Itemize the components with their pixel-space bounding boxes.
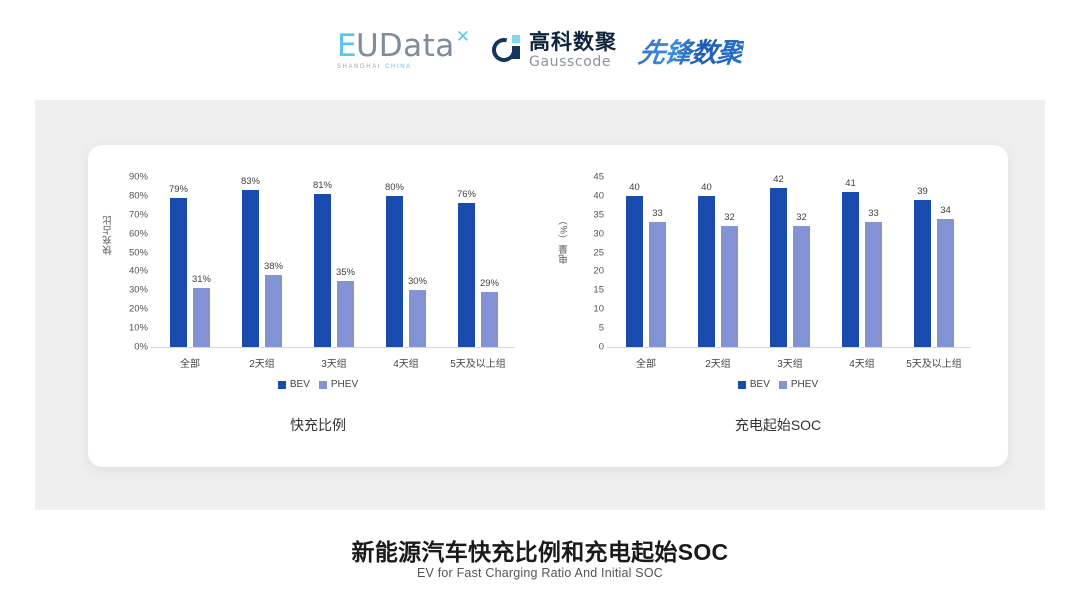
bar-groups: 79%31%83%38%81%35%80%30%76%29% <box>154 177 514 347</box>
bar-bev[interactable]: 79% <box>170 198 187 347</box>
bar-value-label: 30% <box>408 276 427 287</box>
bar-bev[interactable]: 83% <box>242 190 259 347</box>
y-axis-tick: 40% <box>114 266 148 277</box>
chart-legend: BEVPHEV <box>88 379 548 390</box>
bar-group: 81%35% <box>298 177 370 347</box>
bar-group: 4032 <box>682 177 754 347</box>
y-axis-tick: 10 <box>570 304 604 315</box>
bar-phev[interactable]: 33 <box>865 222 882 347</box>
y-axis-tick: 30 <box>570 228 604 239</box>
bar-group: 76%29% <box>442 177 514 347</box>
bar-phev[interactable]: 30% <box>409 290 426 347</box>
charts-card: 快充占比90%80%70%60%50%40%30%20%10%0%79%31%8… <box>88 145 1008 467</box>
bar-value-label: 32 <box>724 212 735 223</box>
bar-phev[interactable]: 33 <box>649 222 666 347</box>
y-axis-tick: 60% <box>114 228 148 239</box>
evdata-word-data: Data <box>379 31 455 62</box>
x-axis-tick: 全部 <box>154 355 226 370</box>
y-axis-tick: 10% <box>114 323 148 334</box>
x-axis-line <box>150 347 514 348</box>
bar-value-label: 42 <box>773 174 784 185</box>
gausscode-name-en: Gausscode <box>529 55 617 69</box>
bar-group: 80%30% <box>370 177 442 347</box>
bar-group: 4133 <box>826 177 898 347</box>
x-axis-tick: 5天及以上组 <box>898 355 970 370</box>
xianfeng-name-cn: 先锋数聚 <box>636 31 745 70</box>
x-axis-tick: 3天组 <box>298 355 370 370</box>
legend-swatch-phev <box>319 381 327 389</box>
bar-phev[interactable]: 38% <box>265 275 282 347</box>
bar-value-label: 41 <box>845 178 856 189</box>
y-axis-tick: 35 <box>570 209 604 220</box>
logo-strip: E U Data ✕ SHANGHAI CHINA 高科数聚 Gausscode… <box>0 22 1080 78</box>
y-axis-tick: 20 <box>570 266 604 277</box>
bar-value-label: 29% <box>480 278 499 289</box>
bar-group: 4033 <box>610 177 682 347</box>
bar-value-label: 79% <box>169 184 188 195</box>
bar-group: 4232 <box>754 177 826 347</box>
gausscode-logo: 高科数聚 Gausscode <box>492 32 617 69</box>
legend-item-bev[interactable]: BEV <box>738 379 770 390</box>
bar-phev[interactable]: 29% <box>481 292 498 347</box>
y-axis-tick: 70% <box>114 209 148 220</box>
legend-swatch-bev <box>278 381 286 389</box>
cross-icon: ✕ <box>456 28 470 45</box>
x-axis-tick: 4天组 <box>826 355 898 370</box>
y-axis-tick: 45 <box>570 172 604 183</box>
y-axis-tick: 40 <box>570 190 604 201</box>
bar-group: 83%38% <box>226 177 298 347</box>
x-axis-tick: 4天组 <box>370 355 442 370</box>
page-title: 新能源汽车快充比例和充电起始SOC <box>0 533 1080 567</box>
x-axis-labels: 全部2天组3天组4天组5天及以上组 <box>154 355 514 370</box>
bar-phev[interactable]: 34 <box>937 219 954 347</box>
evdata-logo: E U Data ✕ SHANGHAI CHINA <box>337 31 470 70</box>
gausscode-square-dark <box>512 46 520 59</box>
bar-bev[interactable]: 40 <box>698 196 715 347</box>
bar-value-label: 80% <box>385 182 404 193</box>
bar-phev[interactable]: 35% <box>337 281 354 347</box>
legend-swatch-phev <box>779 381 787 389</box>
legend-item-phev[interactable]: PHEV <box>779 379 818 390</box>
bar-value-label: 34 <box>940 205 951 216</box>
gausscode-text: 高科数聚 Gausscode <box>529 32 617 69</box>
bar-value-label: 39 <box>917 186 928 197</box>
legend-label: PHEV <box>331 379 358 390</box>
y-axis-tick: 50% <box>114 247 148 258</box>
page-subtitle: EV for Fast Charging Ratio And Initial S… <box>0 566 1080 580</box>
evdata-letter-e: E <box>337 31 357 62</box>
y-axis-tick: 5 <box>570 323 604 334</box>
x-axis-tick: 3天组 <box>754 355 826 370</box>
bar-value-label: 31% <box>192 274 211 285</box>
fast-charging-ratio-chart: 快充占比90%80%70%60%50%40%30%20%10%0%79%31%8… <box>88 145 548 467</box>
evdata-wordmark: E U Data ✕ <box>337 31 470 62</box>
legend-label: PHEV <box>791 379 818 390</box>
legend-item-phev[interactable]: PHEV <box>319 379 358 390</box>
bar-bev[interactable]: 80% <box>386 196 403 347</box>
y-axis-tick: 0% <box>114 342 148 353</box>
x-axis-tick: 5天及以上组 <box>442 355 514 370</box>
evdata-tagline-city: SHANGHAI <box>337 64 381 70</box>
gausscode-mark-icon <box>492 35 522 65</box>
bar-groups: 40334032423241333934 <box>610 177 970 347</box>
legend-item-bev[interactable]: BEV <box>278 379 310 390</box>
evdata-tagline: SHANGHAI CHINA <box>337 64 412 70</box>
chart-title: 充电起始SOC <box>548 415 1008 435</box>
bar-bev[interactable]: 41 <box>842 192 859 347</box>
bar-value-label: 40 <box>701 182 712 193</box>
x-axis-tick: 2天组 <box>682 355 754 370</box>
bar-value-label: 33 <box>652 208 663 219</box>
legend-swatch-bev <box>738 381 746 389</box>
bar-group: 3934 <box>898 177 970 347</box>
bar-phev[interactable]: 31% <box>193 288 210 347</box>
evdata-tagline-country: CHINA <box>385 64 412 70</box>
bar-group: 79%31% <box>154 177 226 347</box>
x-axis-tick: 2天组 <box>226 355 298 370</box>
chart-title: 快充比例 <box>88 415 548 435</box>
x-axis-line <box>606 347 970 348</box>
bar-bev[interactable]: 40 <box>626 196 643 347</box>
bar-bev[interactable]: 42 <box>770 188 787 347</box>
bar-value-label: 35% <box>336 267 355 278</box>
chart-legend: BEVPHEV <box>548 379 1008 390</box>
bar-value-label: 76% <box>457 189 476 200</box>
bar-value-label: 33 <box>868 208 879 219</box>
x-axis-tick: 全部 <box>610 355 682 370</box>
y-axis-tick: 15 <box>570 285 604 296</box>
bar-bev[interactable]: 76% <box>458 203 475 347</box>
bar-phev[interactable]: 32 <box>721 226 738 347</box>
bar-bev[interactable]: 39 <box>914 200 931 347</box>
x-axis-labels: 全部2天组3天组4天组5天及以上组 <box>610 355 970 370</box>
xianfeng-logo: 先锋数聚 <box>639 31 743 70</box>
gausscode-name-cn: 高科数聚 <box>529 32 617 53</box>
y-axis-tick: 30% <box>114 285 148 296</box>
bar-phev[interactable]: 32 <box>793 226 810 347</box>
y-axis-tick: 80% <box>114 190 148 201</box>
evdata-letter-v: U <box>356 31 379 62</box>
y-axis-tick: 20% <box>114 304 148 315</box>
gausscode-square-light <box>512 35 520 43</box>
bar-value-label: 40 <box>629 182 640 193</box>
bar-bev[interactable]: 81% <box>314 194 331 347</box>
bar-value-label: 83% <box>241 176 260 187</box>
y-axis-tick: 90% <box>114 172 148 183</box>
bar-value-label: 81% <box>313 180 332 191</box>
y-axis-tick: 0 <box>570 342 604 353</box>
bar-value-label: 38% <box>264 261 283 272</box>
y-axis-tick: 25 <box>570 247 604 258</box>
bar-value-label: 32 <box>796 212 807 223</box>
legend-label: BEV <box>290 379 310 390</box>
charts-row: 快充占比90%80%70%60%50%40%30%20%10%0%79%31%8… <box>88 145 1008 467</box>
legend-label: BEV <box>750 379 770 390</box>
initial-soc-chart: 电量（%）45403530252015105040334032423241333… <box>548 145 1008 467</box>
